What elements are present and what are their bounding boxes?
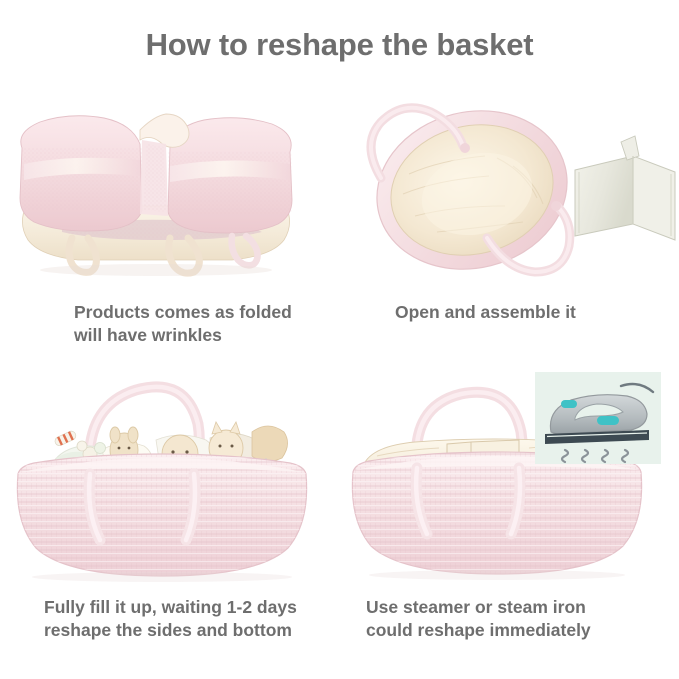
divider-board-icon bbox=[575, 136, 675, 240]
infographic-root: How to reshape the basket bbox=[0, 0, 679, 679]
fill-basket-caption: Fully fill it up, waiting 1-2 days resha… bbox=[44, 596, 297, 642]
steam-iron-panel: Use steamer or steam iron could reshape … bbox=[339, 360, 678, 630]
folded-basket-panel: Products comes as folded will have wrink… bbox=[0, 82, 339, 352]
fill-basket-panel: Fully fill it up, waiting 1-2 days resha… bbox=[0, 360, 339, 630]
steam-iron-caption: Use steamer or steam iron could reshape … bbox=[366, 596, 591, 642]
empty-basket-with-iron-image bbox=[339, 360, 678, 575]
page-title: How to reshape the basket bbox=[0, 28, 679, 62]
steam-iron-icon bbox=[535, 372, 661, 464]
open-assemble-panel: Open and assemble it bbox=[339, 82, 678, 352]
filled-basket-image bbox=[0, 360, 339, 575]
open-basket-top-view-image bbox=[339, 82, 678, 297]
open-assemble-caption: Open and assemble it bbox=[395, 301, 576, 324]
folded-basket-image bbox=[0, 82, 339, 297]
folded-basket-caption: Products comes as folded will have wrink… bbox=[74, 301, 292, 347]
